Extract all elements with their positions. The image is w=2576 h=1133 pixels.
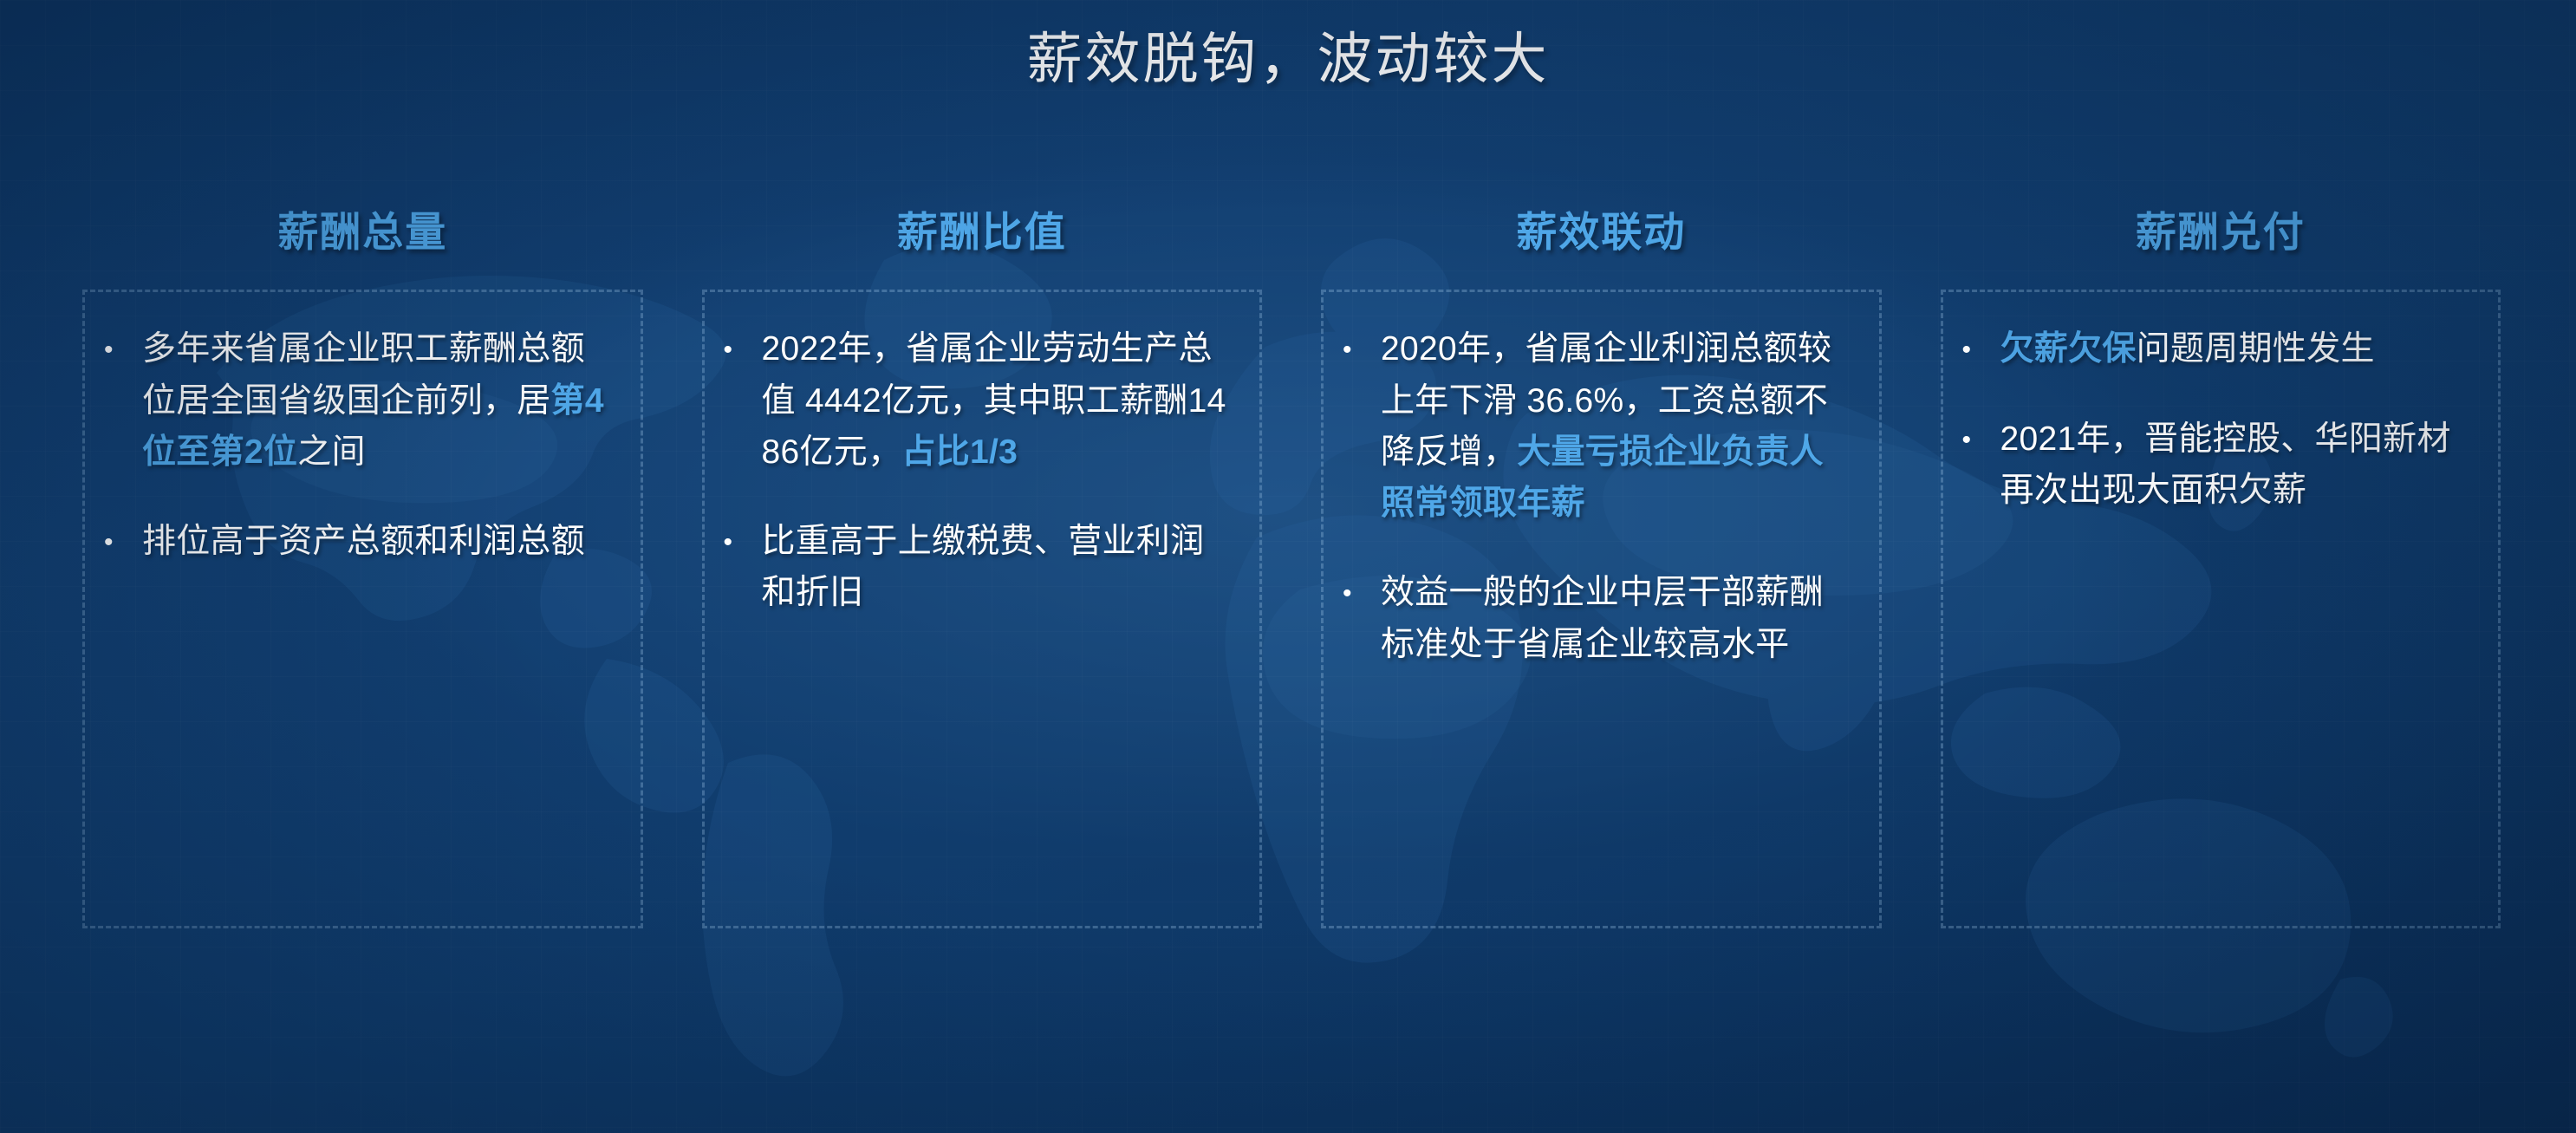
list-item: • 排位高于资产总额和利润总额 (104, 516, 618, 567)
list-item: • 欠薪欠保问题周期性发生 (1962, 323, 2476, 374)
bullet-text: 排位高于资产总额和利润总额 (142, 516, 618, 567)
bullet-list-4: • 欠薪欠保问题周期性发生 • 2021年，晋能控股、华阳新材再次出现大面积欠薪 (1962, 323, 2476, 516)
highlighted-text: 欠薪欠保 (2000, 330, 2137, 368)
plain-text: 排位高于资产总额和利润总额 (142, 523, 585, 560)
slide-canvas: 薪效脱钩，波动较大 薪酬总量 • 多年来省属企业职工薪酬总额位居全国省级国企前列… (0, 0, 2576, 1133)
highlighted-text: 占比1/3 (901, 433, 1018, 471)
plain-text: 多年来省属企业职工薪酬总额位居全国省级国企前列，居 (142, 330, 585, 419)
bullet-dot-icon: • (1962, 413, 2000, 453)
column-header-4: 薪酬兑付 (1941, 208, 2501, 257)
column-body-1: • 多年来省属企业职工薪酬总额位居全国省级国企前列，居第4位至第2位之间 • 排… (82, 290, 643, 928)
list-item: • 比重高于上缴税费、营业利润和折旧 (724, 516, 1238, 619)
bullet-dot-icon: • (104, 516, 142, 556)
column-salary-ratio: 薪酬比值 • 2022年，省属企业劳动生产总值 4442亿元，其中职工薪酬148… (702, 208, 1263, 928)
column-header-3: 薪效联动 (1321, 208, 1882, 257)
bullet-dot-icon: • (104, 323, 142, 363)
plain-text: 效益一般的企业中层干部薪酬标准处于省属企业较高水平 (1381, 574, 1824, 662)
bullet-text: 欠薪欠保问题周期性发生 (2000, 323, 2476, 374)
plain-text: 之间 (297, 433, 366, 471)
bullet-list-3: • 2020年，省属企业利润总额较上年下滑 36.6%，工资总额不降反增，大量亏… (1343, 323, 1857, 670)
bullet-text: 多年来省属企业职工薪酬总额位居全国省级国企前列，居第4位至第2位之间 (142, 323, 618, 478)
plain-text: 比重高于上缴税费、营业利润和折旧 (762, 523, 1205, 611)
bullet-dot-icon: • (1343, 323, 1381, 363)
list-item: • 2022年，省属企业劳动生产总值 4442亿元，其中职工薪酬1486亿元，占… (724, 323, 1238, 478)
bullet-text: 2021年，晋能控股、华阳新材再次出现大面积欠薪 (2000, 413, 2476, 517)
page-title: 薪效脱钩，波动较大 (0, 24, 2576, 94)
column-body-2: • 2022年，省属企业劳动生产总值 4442亿元，其中职工薪酬1486亿元，占… (702, 290, 1263, 928)
bullet-dot-icon: • (724, 516, 762, 556)
column-body-3: • 2020年，省属企业利润总额较上年下滑 36.6%，工资总额不降反增，大量亏… (1321, 290, 1882, 928)
column-salary-total: 薪酬总量 • 多年来省属企业职工薪酬总额位居全国省级国企前列，居第4位至第2位之… (82, 208, 643, 928)
bullet-dot-icon: • (724, 323, 762, 363)
bullet-text: 2020年，省属企业利润总额较上年下滑 36.6%，工资总额不降反增，大量亏损企… (1381, 323, 1857, 529)
column-header-2: 薪酬比值 (702, 208, 1263, 257)
bullet-text: 比重高于上缴税费、营业利润和折旧 (762, 516, 1238, 619)
bullet-dot-icon: • (1962, 323, 2000, 363)
column-header-1: 薪酬总量 (82, 208, 643, 257)
bullet-text: 效益一般的企业中层干部薪酬标准处于省属企业较高水平 (1381, 567, 1857, 670)
bullet-dot-icon: • (1343, 567, 1381, 607)
list-item: • 效益一般的企业中层干部薪酬标准处于省属企业较高水平 (1343, 567, 1857, 670)
bullet-text: 2022年，省属企业劳动生产总值 4442亿元，其中职工薪酬1486亿元，占比1… (762, 323, 1238, 478)
column-body-4: • 欠薪欠保问题周期性发生 • 2021年，晋能控股、华阳新材再次出现大面积欠薪 (1941, 290, 2501, 928)
list-item: • 2020年，省属企业利润总额较上年下滑 36.6%，工资总额不降反增，大量亏… (1343, 323, 1857, 529)
bullet-list-2: • 2022年，省属企业劳动生产总值 4442亿元，其中职工薪酬1486亿元，占… (724, 323, 1238, 618)
column-salary-payment: 薪酬兑付 • 欠薪欠保问题周期性发生 • 2021年，晋能控股、华阳新材再次出现… (1941, 208, 2501, 928)
columns-container: 薪酬总量 • 多年来省属企业职工薪酬总额位居全国省级国企前列，居第4位至第2位之… (82, 208, 2501, 928)
plain-text: 问题周期性发生 (2137, 330, 2375, 368)
plain-text: 2021年，晋能控股、华阳新材再次出现大面积欠薪 (2000, 420, 2451, 509)
bullet-list-1: • 多年来省属企业职工薪酬总额位居全国省级国企前列，居第4位至第2位之间 • 排… (104, 323, 618, 567)
column-pay-performance-link: 薪效联动 • 2020年，省属企业利润总额较上年下滑 36.6%，工资总额不降反… (1321, 208, 1882, 928)
list-item: • 多年来省属企业职工薪酬总额位居全国省级国企前列，居第4位至第2位之间 (104, 323, 618, 478)
list-item: • 2021年，晋能控股、华阳新材再次出现大面积欠薪 (1962, 413, 2476, 517)
